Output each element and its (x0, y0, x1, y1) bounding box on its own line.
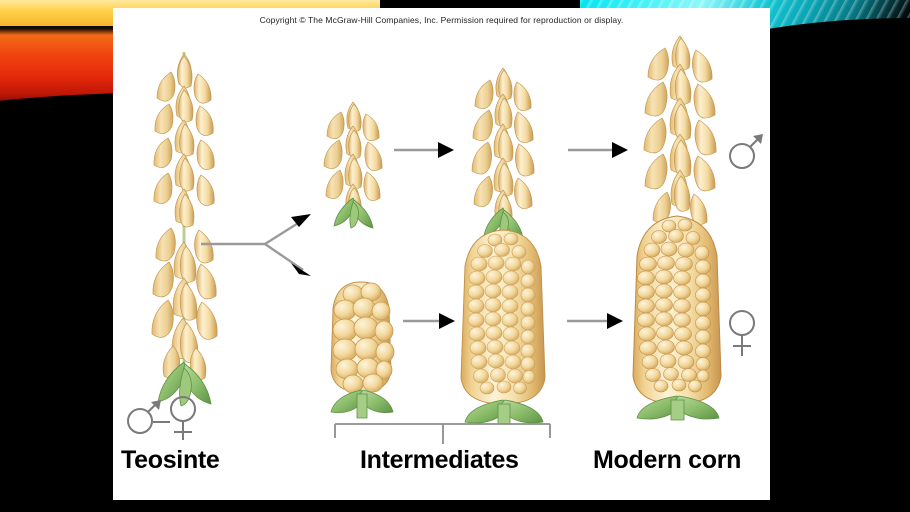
arrow-tassel-1-to-2 (394, 142, 454, 158)
plant-modern-corn-ear (633, 216, 721, 420)
plant-modern-corn-tassel (644, 36, 716, 225)
arrow-ear-2-to-modern (567, 313, 623, 329)
plant-intermediate-tassel-1 (324, 102, 382, 228)
female-symbol-right (730, 311, 754, 356)
branch-arrow-down-line (265, 244, 303, 270)
arrow-ear-1-to-2 (403, 313, 455, 329)
intermediates-bracket (335, 424, 550, 444)
plant-intermediate-tassel-2 (472, 68, 534, 238)
arrow-tassel-2-to-modern (568, 142, 628, 158)
plant-teosinte (152, 52, 217, 406)
male-symbol-right (730, 134, 763, 168)
teosinte-male-symbol (128, 409, 152, 433)
label-intermediates: Intermediates (360, 446, 519, 475)
arrow-branch-group (201, 214, 311, 276)
plant-intermediate-ear-1 (331, 282, 394, 418)
branch-arrow-down-head (291, 263, 311, 276)
plant-intermediate-ear-2 (461, 230, 545, 424)
figure-panel: Copyright © The McGraw-Hill Companies, I… (113, 8, 770, 500)
label-teosinte: Teosinte (121, 446, 220, 475)
slide-canvas: Copyright © The McGraw-Hill Companies, I… (0, 0, 910, 512)
teosinte-to-corn-diagram: Teosinte Intermediates Modern corn (113, 8, 770, 500)
label-modern-corn: Modern corn (593, 446, 741, 475)
